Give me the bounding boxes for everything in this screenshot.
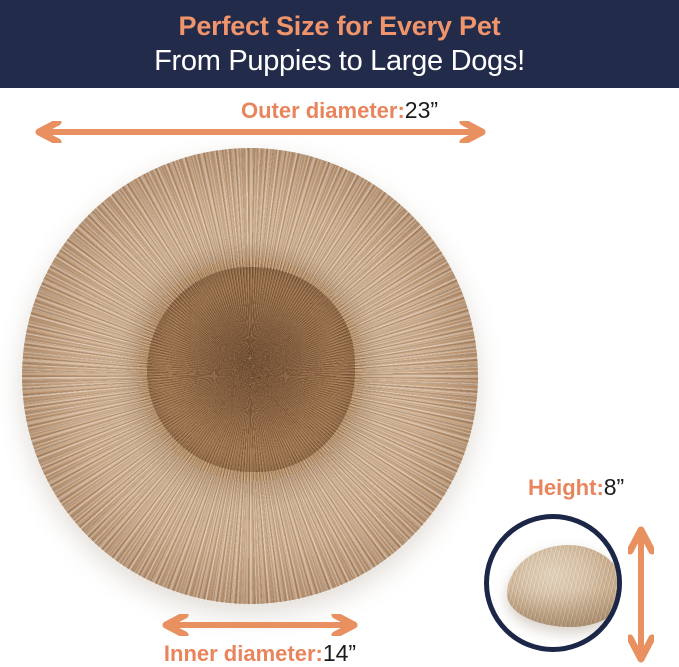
outer-diameter-arrow-icon <box>28 121 493 143</box>
inner-diameter-label-text: Inner diameter: <box>164 641 323 666</box>
outer-diameter-value: 23” <box>405 97 438 123</box>
pet-bed-size-infographic: Perfect Size for Every Pet From Puppies … <box>0 0 679 667</box>
bed-inner-cushion <box>147 267 354 472</box>
page-subtitle: From Puppies to Large Dogs! <box>0 43 679 79</box>
height-label-text: Height: <box>528 475 604 500</box>
page-title: Perfect Size for Every Pet <box>0 9 679 43</box>
pet-bed-top-view-image <box>22 148 478 604</box>
height-arrow-icon <box>628 521 654 667</box>
bed-side-profile-image <box>507 545 622 627</box>
outer-diameter-label-text: Outer diameter: <box>241 98 405 123</box>
inner-diameter-value: 14” <box>323 640 356 666</box>
height-label: Height:8” <box>528 474 624 501</box>
side-profile-inset <box>484 514 622 652</box>
inner-diameter-label: Inner diameter:14” <box>0 640 520 667</box>
header-banner: Perfect Size for Every Pet From Puppies … <box>0 0 679 88</box>
bed-outer-bolster <box>22 148 478 604</box>
inner-diameter-arrow-icon <box>156 614 364 636</box>
inset-ring-border <box>484 514 622 652</box>
outer-diameter-label: Outer diameter:23” <box>0 97 679 124</box>
height-value: 8” <box>604 474 624 500</box>
